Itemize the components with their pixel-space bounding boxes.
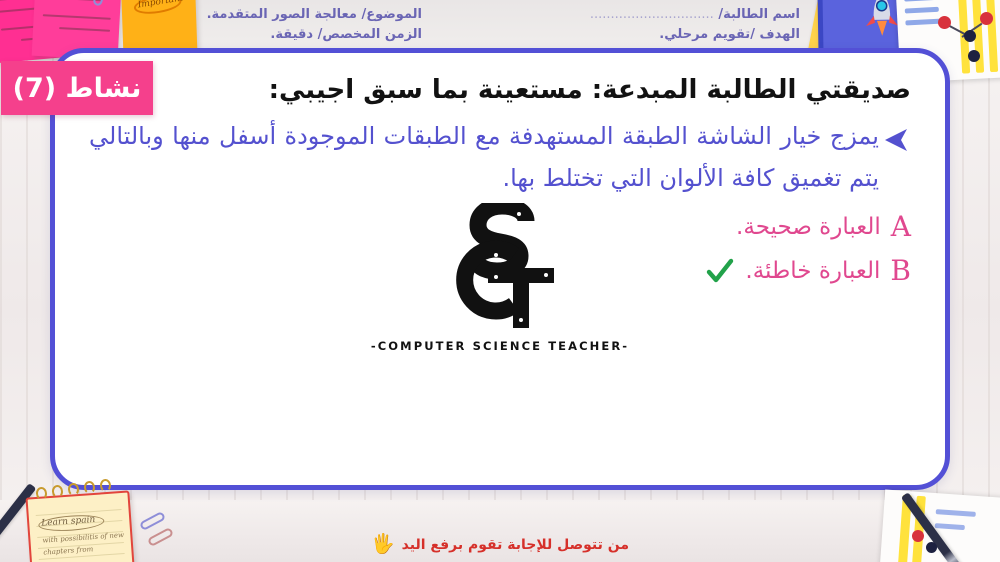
option-b[interactable]: B العبارة خاطئة. — [89, 249, 911, 293]
time-line: الزمن المخصص/ دقيقة. — [207, 25, 422, 45]
option-a-label: العبارة صحيحة. — [736, 205, 881, 249]
subject-line: الموضوع/ معالجة الصور المتقدمة. — [207, 5, 422, 25]
question-title: صديقتي الطالبة المبدعة: مستعينة بما سبق … — [89, 69, 911, 111]
statement-row: يمزج خيار الشاشة الطبقة المستهدفة مع الط… — [89, 115, 911, 199]
option-b-label: العبارة خاطئة. — [745, 249, 880, 293]
option-b-letter: B — [890, 249, 911, 293]
student-name-dotted-line: .............................. — [590, 7, 714, 22]
question-statement: يمزج خيار الشاشة الطبقة المستهدفة مع الط… — [89, 115, 879, 199]
footer-text: من تتوصل للإجابة تقوم برفع اليد — [402, 537, 629, 553]
activity-card: نشاط (7) صديقتي الطالبة المبدعة: مستعينة… — [50, 48, 950, 490]
slide-canvas: Important الموضوع/ معالجة الصور المتقدمة… — [0, 0, 1000, 562]
header-student-block: اسم الطالبة/ ...........................… — [590, 5, 800, 45]
footer: من تتوصل للإجابة تقوم برفع اليد 🖐 — [0, 535, 1000, 554]
header-subject-block: الموضوع/ معالجة الصور المتقدمة. الزمن ال… — [207, 5, 422, 45]
option-a[interactable]: A العبارة صحيحة. — [89, 205, 911, 249]
arrow-bullet-icon — [881, 125, 911, 155]
options-list: A العبارة صحيحة. B العبارة خاطئة. — [89, 205, 911, 293]
watermark-caption: -COMPUTER SCIENCE TEACHER- — [371, 339, 629, 353]
goal-line: الهدف /تقويم مرحلي. — [590, 25, 800, 45]
molecule-diagram-icon — [938, 10, 998, 70]
student-name-row: اسم الطالبة/ ...........................… — [590, 5, 800, 25]
green-check-icon — [705, 256, 735, 286]
raised-hand-icon: 🖐 — [371, 535, 395, 554]
option-a-letter: A — [891, 205, 911, 249]
student-name-label: اسم الطالبة/ — [718, 7, 800, 22]
card-content: صديقتي الطالبة المبدعة: مستعينة بما سبق … — [89, 69, 911, 293]
